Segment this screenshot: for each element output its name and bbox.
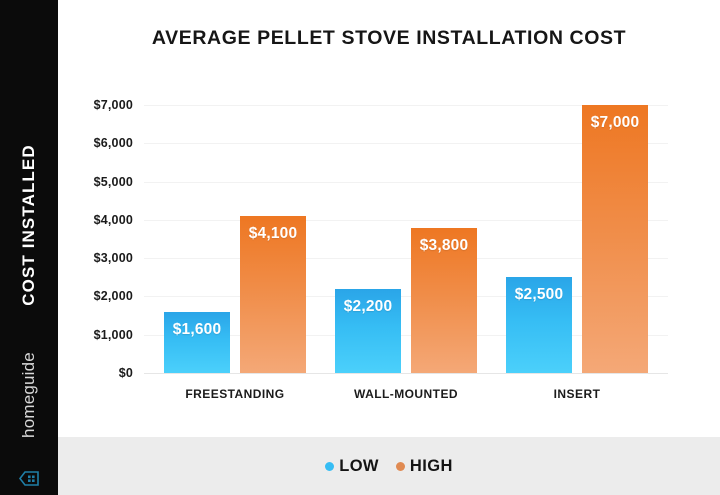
bar-value-label: $3,800 (411, 237, 477, 255)
bar-high-insert[interactable]: $7,000 (582, 105, 648, 373)
bar-group-freestanding: $1,600 $4,100 FREESTANDING (164, 105, 306, 373)
legend-label-high: HIGH (410, 457, 453, 476)
bar-low-insert[interactable]: $2,500 (506, 277, 572, 373)
brand-name: homeguide (19, 352, 39, 438)
y-tick-label-0: $0 (119, 366, 133, 380)
legend: LOW HIGH (58, 437, 720, 495)
y-tick-label-7000: $7,000 (94, 98, 133, 112)
chart-card: AVERAGE PELLET STOVE INSTALLATION COST $… (58, 0, 720, 495)
homeguide-hexagon-grid-logo-icon (18, 468, 42, 489)
bar-high-wall-mounted[interactable]: $3,800 (411, 228, 477, 374)
bar-value-label: $1,600 (164, 321, 230, 339)
x-tick-label-insert: INSERT (506, 387, 648, 401)
chart-infographic: COST INSTALLED homeguide AVERAGE PELLET … (0, 0, 720, 495)
y-tick-label-5000: $5,000 (94, 175, 133, 189)
bar-value-label: $2,500 (506, 286, 572, 304)
y-tick-label-2000: $2,000 (94, 289, 133, 303)
legend-dot-low-icon (325, 462, 334, 471)
bar-value-label: $7,000 (582, 114, 648, 132)
legend-item-low[interactable]: LOW (325, 457, 379, 476)
gridline-0 (144, 373, 668, 374)
y-axis-title: COST INSTALLED (19, 144, 39, 305)
bar-high-freestanding[interactable]: $4,100 (240, 216, 306, 373)
x-tick-label-wall-mounted: WALL-MOUNTED (335, 387, 477, 401)
plot-area: $7,000 $6,000 $5,000 $4,000 $3,000 $2,00… (144, 105, 668, 373)
legend-label-low: LOW (339, 457, 379, 476)
bar-low-wall-mounted[interactable]: $2,200 (335, 289, 401, 373)
left-rail: COST INSTALLED homeguide (0, 0, 58, 495)
bar-group-wall-mounted: $2,200 $3,800 WALL-MOUNTED (335, 105, 477, 373)
y-tick-label-4000: $4,000 (94, 213, 133, 227)
legend-dot-high-icon (396, 462, 405, 471)
bar-value-label: $4,100 (240, 225, 306, 243)
legend-item-high[interactable]: HIGH (396, 457, 453, 476)
y-tick-label-6000: $6,000 (94, 136, 133, 150)
bar-value-label: $2,200 (335, 298, 401, 316)
bar-low-freestanding[interactable]: $1,600 (164, 312, 230, 373)
y-tick-label-3000: $3,000 (94, 251, 133, 265)
chart-title: AVERAGE PELLET STOVE INSTALLATION COST (58, 27, 720, 50)
y-tick-label-1000: $1,000 (94, 328, 133, 342)
bar-group-insert: $2,500 $7,000 INSERT (506, 105, 648, 373)
x-tick-label-freestanding: FREESTANDING (164, 387, 306, 401)
